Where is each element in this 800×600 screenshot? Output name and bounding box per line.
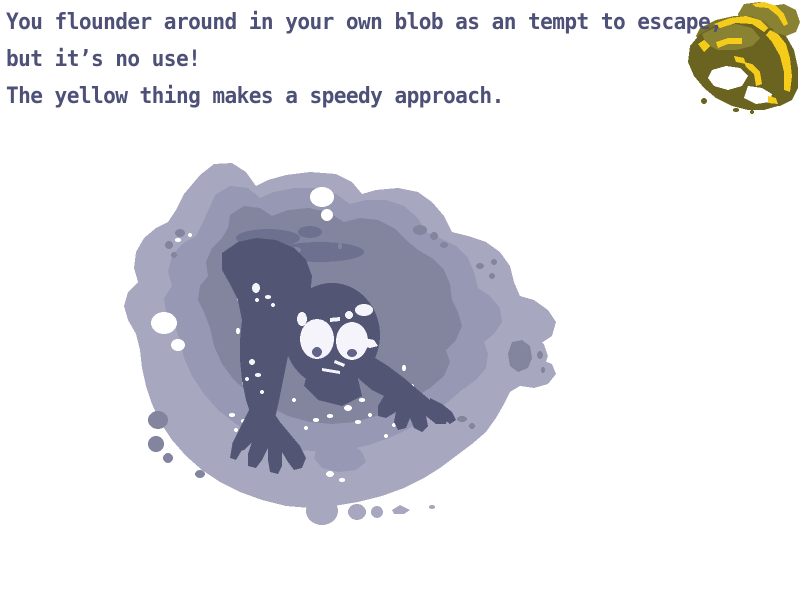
blob-bubbles [151, 187, 414, 482]
game-scene: You flounder around in your own blob as … [0, 0, 800, 600]
narration-text-box: You flounder around in your own blob as … [6, 4, 726, 115]
narration-line-1: You flounder around in your own blob as … [6, 4, 697, 41]
blob-speckles [148, 225, 545, 478]
blob-puddle-right-lobe [494, 334, 548, 380]
blob-pale-foot [314, 425, 366, 472]
creature-body [222, 238, 456, 474]
narration-line-2: but it’s no use! [6, 41, 697, 78]
blob-puddle-outer [124, 163, 556, 508]
narration-line-3: The yellow thing makes a speedy approach… [6, 78, 697, 115]
blob-dark-streaks [222, 226, 364, 277]
creature-speckles [245, 283, 275, 394]
blob-puddle-mid [164, 186, 502, 452]
creature-eyes [297, 304, 378, 374]
blob-puddle-inner [198, 206, 462, 424]
blob-droplets [306, 497, 435, 525]
